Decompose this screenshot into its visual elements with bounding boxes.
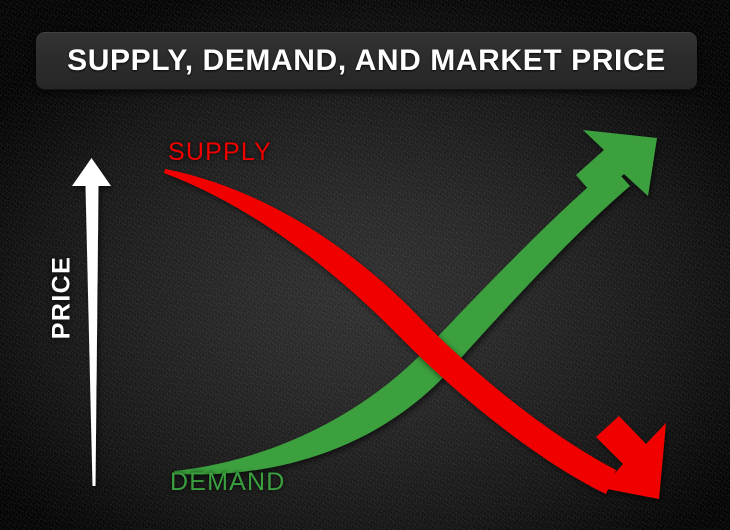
demand-curve-label: DEMAND [170, 468, 286, 497]
supply-curve-label: SUPPLY [168, 138, 272, 167]
diagram-canvas: SUPPLY, DEMAND, AND MARKET PRICE SUPPLY … [0, 0, 730, 530]
y-axis-label: PRICE [48, 233, 77, 363]
supply-demand-chart [0, 0, 730, 530]
y-axis-arrow-icon [72, 158, 111, 486]
demand-curve [174, 130, 657, 474]
